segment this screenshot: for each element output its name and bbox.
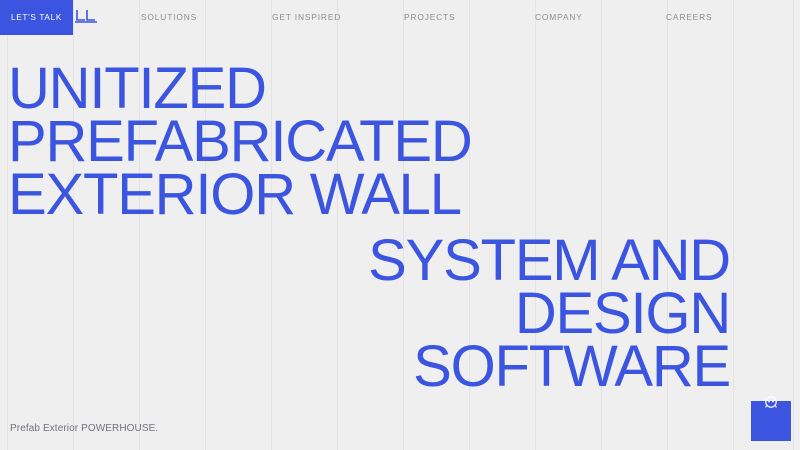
nav-item-get-inspired[interactable]: GET INSPIRED: [272, 12, 341, 22]
grid-line-11: [733, 0, 734, 450]
primary-navigation: SOLUTIONS GET INSPIRED PROJECTS COMPANY …: [0, 0, 800, 37]
footer-tagline: Prefab Exterior POWERHOUSE.: [10, 423, 158, 434]
lets-talk-button[interactable]: LET'S TALK: [0, 0, 73, 35]
nav-item-solutions[interactable]: SOLUTIONS: [141, 12, 197, 22]
hero-headline-left-line-1: UNITIZED: [8, 62, 472, 115]
grid-line-6: [403, 0, 404, 450]
hero-headline-left: UNITIZED PREFABRICATED EXTERIOR WALL: [8, 62, 472, 221]
nav-item-company[interactable]: COMPANY: [535, 12, 583, 22]
grid-line-7: [469, 0, 470, 450]
grid-line-0: [7, 0, 8, 450]
grid-line-12: [793, 0, 794, 450]
grid-line-5: [337, 0, 338, 450]
top-navigation-bar: LET'S TALK SOLUTIONS GET INSPIRED PROJEC…: [0, 0, 800, 37]
hero-headline-right-line-2: DESIGN: [368, 287, 730, 340]
grid-line-4: [271, 0, 272, 450]
hero-headline-right-line-3: SOFTWARE: [368, 340, 730, 393]
chat-widget-button[interactable]: [751, 401, 791, 441]
grid-line-2: [139, 0, 140, 450]
hero-headline-left-line-3: EXTERIOR WALL: [8, 168, 472, 221]
nav-item-careers[interactable]: CAREERS: [666, 12, 712, 22]
nav-item-projects[interactable]: PROJECTS: [404, 12, 455, 22]
hero-headline-right-line-1: SYSTEM AND: [368, 234, 730, 287]
brand-logo-icon[interactable]: [74, 9, 98, 27]
grid-line-3: [205, 0, 206, 450]
grid-line-10: [667, 0, 668, 450]
grid-line-9: [601, 0, 602, 450]
background-grid: [0, 0, 800, 450]
grid-line-1: [73, 0, 74, 450]
hero-headline-right: SYSTEM AND DESIGN SOFTWARE: [368, 234, 730, 393]
hero-headline-left-line-2: PREFABRICATED: [8, 115, 472, 168]
chat-bubble-icon: [763, 395, 779, 411]
grid-line-8: [535, 0, 536, 450]
hero-section: UNITIZED PREFABRICATED EXTERIOR WALL SYS…: [0, 0, 800, 450]
